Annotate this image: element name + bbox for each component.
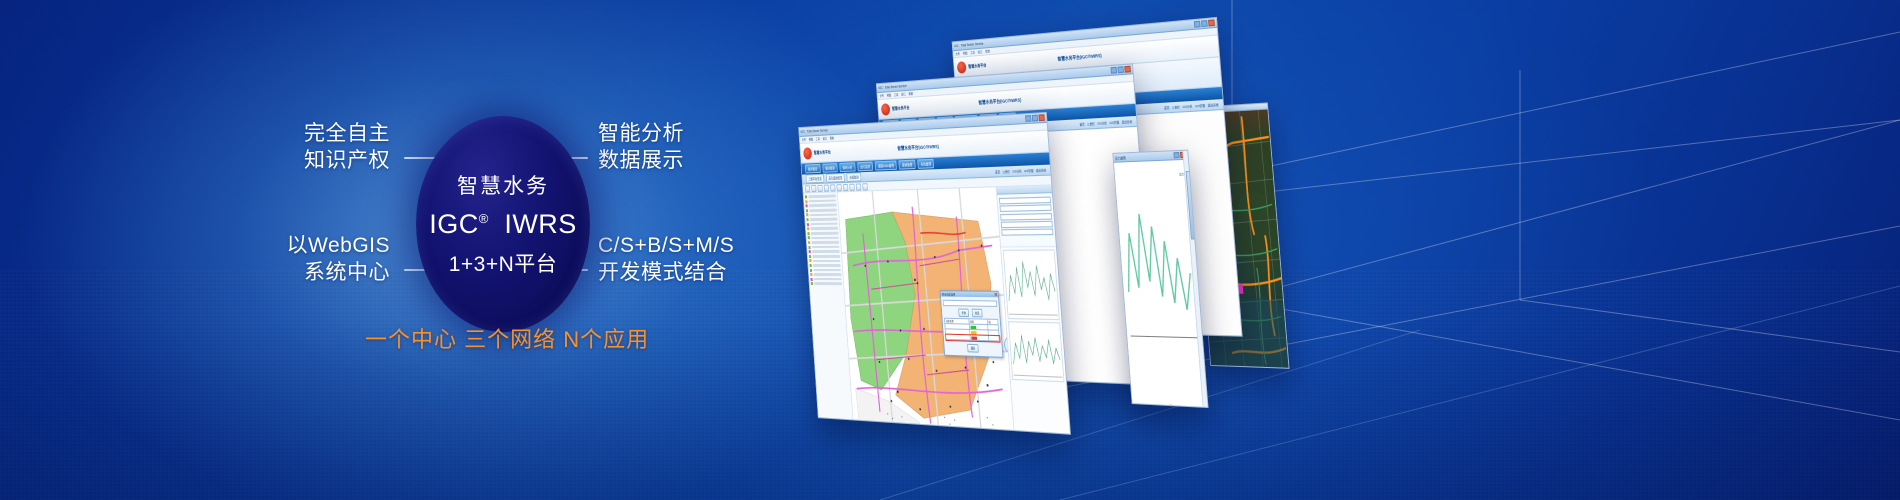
window-title: 压力趋势 bbox=[1115, 155, 1126, 160]
zone-select-dialog[interactable]: 供水分区选择 查询 重置 分区名称状态值 bbox=[940, 290, 1004, 358]
sub-tab[interactable]: 压力监测总览 bbox=[826, 173, 845, 182]
menu-item[interactable]: 视图 bbox=[963, 51, 968, 55]
status-swatch-red bbox=[971, 336, 977, 340]
window-center-title: 智慧水务平台(IGC®IWRS) bbox=[1057, 52, 1102, 62]
window-center-title: 智慧水务平台(IGC®IWRS) bbox=[897, 143, 939, 151]
confirm-button[interactable]: 确定 bbox=[967, 344, 978, 353]
menu-item[interactable]: 窗口 bbox=[823, 136, 828, 140]
sub-tab[interactable]: 水质监测 bbox=[847, 172, 862, 181]
menu-item[interactable]: 帮助 bbox=[985, 49, 990, 53]
nav-tab[interactable]: 管网分析 bbox=[839, 162, 855, 172]
feature-line-1: C/S+B/S+M/S bbox=[598, 232, 734, 259]
nav-tab[interactable]: 管网普查 bbox=[805, 164, 821, 174]
table-row bbox=[946, 335, 1000, 342]
menu-item[interactable]: 帮助 bbox=[908, 92, 913, 96]
sub-link[interactable]: GIS分析 bbox=[1182, 104, 1192, 109]
nav-tab[interactable]: 营销管理 bbox=[899, 159, 916, 169]
tree-node[interactable] bbox=[810, 278, 841, 281]
core-badge: 智慧水务 IGC® IWRS 1+3+N平台 bbox=[416, 116, 590, 332]
core-product: IGC bbox=[429, 209, 479, 239]
window-title: IGC - Total Server Service bbox=[800, 128, 828, 134]
layers-icon[interactable] bbox=[849, 183, 855, 190]
core-platform: 1+3+N平台 bbox=[449, 248, 558, 278]
measure-icon[interactable] bbox=[830, 184, 835, 191]
tree-node[interactable] bbox=[810, 273, 841, 276]
tree-node[interactable] bbox=[810, 264, 841, 267]
status-swatch-green bbox=[970, 325, 976, 329]
tree-node[interactable] bbox=[806, 218, 837, 222]
tree-node[interactable] bbox=[811, 282, 842, 285]
sub-link[interactable]: GIS管理 bbox=[1024, 168, 1034, 173]
query-button[interactable]: 查询 bbox=[958, 309, 969, 318]
company-logo-icon bbox=[881, 103, 890, 115]
pressure-chart-svg bbox=[1009, 322, 1064, 381]
status-swatch-yellow bbox=[971, 331, 977, 335]
close-icon bbox=[1038, 114, 1044, 121]
nav-tab[interactable]: 管网管理 bbox=[822, 163, 838, 173]
core-product-name: IGC® IWRS bbox=[429, 209, 577, 240]
tree-node[interactable] bbox=[807, 227, 838, 231]
pan-icon[interactable] bbox=[805, 185, 810, 192]
feature-line-2: 开发模式结合 bbox=[598, 259, 734, 286]
nav-tab[interactable]: 运行监控 bbox=[857, 161, 873, 171]
sub-link[interactable]: 公告栏 bbox=[1002, 169, 1010, 174]
nav-tab[interactable]: 漏损DMA管理 bbox=[875, 160, 897, 171]
menu-item[interactable]: 文件 bbox=[955, 52, 960, 56]
tree-node[interactable] bbox=[808, 236, 839, 239]
app-window-front[interactable]: IGC - Total Server Service 文件 视图 工具 窗口 帮… bbox=[798, 112, 1071, 435]
feature-label-bottom-left: 以WebGIS 系统中心 bbox=[287, 232, 390, 287]
gis-workspace: 供水分区选择 查询 重置 分区名称状态值 bbox=[803, 185, 1071, 434]
sub-link[interactable]: 公告栏 bbox=[1172, 104, 1180, 109]
minimize-icon bbox=[1173, 152, 1179, 158]
sub-link[interactable]: 退出系统 bbox=[1207, 102, 1218, 107]
minimize-icon bbox=[1025, 115, 1031, 122]
registered-mark-icon: ® bbox=[479, 211, 489, 226]
feature-cluster: 完全自主 知识产权 智能分析 数据展示 以WebGIS 系统中心 C/S+B/S… bbox=[268, 104, 788, 354]
coordinate-status: 坐标 X: Y: bbox=[838, 434, 847, 435]
menu-item[interactable]: 文件 bbox=[879, 94, 884, 98]
brand-name: 智慧水务平台 bbox=[892, 104, 910, 111]
window-center-title: 智慧水务平台(IGC®IWRS) bbox=[978, 97, 1021, 106]
flow-mini-chart bbox=[1003, 249, 1060, 320]
feature-line-1: 以WebGIS bbox=[287, 232, 390, 259]
fullextent-icon[interactable] bbox=[862, 183, 868, 190]
menu-item[interactable]: 帮助 bbox=[830, 136, 835, 140]
sub-tab[interactable]: 二维平台总览 bbox=[806, 174, 825, 183]
menu-item[interactable]: 视图 bbox=[887, 93, 892, 97]
tree-node[interactable] bbox=[806, 204, 837, 208]
window-controls[interactable] bbox=[1025, 114, 1045, 122]
window-controls[interactable] bbox=[1194, 19, 1215, 27]
tree-node[interactable] bbox=[806, 213, 837, 217]
menu-item[interactable]: 工具 bbox=[970, 50, 975, 54]
minimize-icon bbox=[1111, 67, 1118, 74]
screenshot-stack: IGC - Total Server Service 文件 视图 工具 窗口 帮… bbox=[770, 40, 1900, 440]
sub-link[interactable]: 公告栏 bbox=[1087, 121, 1095, 126]
maximize-icon bbox=[1117, 66, 1124, 73]
identify-icon[interactable] bbox=[836, 184, 841, 191]
chart-xlabel: 时间 bbox=[1132, 402, 1208, 408]
dialog-close-icon[interactable] bbox=[994, 293, 997, 296]
sub-link[interactable]: GIS分析 bbox=[1097, 120, 1107, 125]
maximize-icon bbox=[1201, 20, 1208, 27]
dialog-title: 供水分区选择 bbox=[942, 292, 955, 296]
promo-banner: 完全自主 知识产权 智能分析 数据展示 以WebGIS 系统中心 C/S+B/S… bbox=[0, 0, 1900, 500]
tree-node[interactable] bbox=[806, 208, 837, 212]
close-icon bbox=[1124, 66, 1131, 73]
dialog-content: 查询 重置 分区名称状态值 确定 bbox=[941, 297, 1003, 358]
feature-line-2: 知识产权 bbox=[304, 147, 390, 174]
window-title: IGC - Total Server Service bbox=[954, 42, 984, 49]
menu-item[interactable]: 文件 bbox=[802, 138, 806, 142]
menu-item[interactable]: 窗口 bbox=[978, 50, 983, 54]
tree-node[interactable] bbox=[809, 250, 840, 253]
scale-status: 比例尺 1:5 000 bbox=[822, 432, 835, 434]
feature-line-2: 数据展示 bbox=[598, 147, 684, 174]
tree-node[interactable] bbox=[809, 259, 840, 262]
maximize-icon bbox=[1032, 115, 1038, 122]
tree-node[interactable] bbox=[808, 245, 839, 248]
tree-node[interactable] bbox=[807, 222, 838, 226]
sub-link[interactable]: GIS管理 bbox=[1195, 103, 1205, 108]
print-icon[interactable] bbox=[843, 183, 848, 190]
company-logo-icon bbox=[803, 147, 812, 159]
tree-node[interactable] bbox=[807, 231, 838, 234]
pressure-mini-chart bbox=[1008, 321, 1064, 382]
window-controls[interactable] bbox=[1111, 66, 1131, 74]
sub-nav-right[interactable]: 首页 公告栏 GIS分析 GIS管理 退出系统 bbox=[1079, 119, 1132, 126]
minimize-icon bbox=[1194, 21, 1201, 28]
tree-node[interactable] bbox=[805, 194, 836, 198]
menu-item[interactable]: 视图 bbox=[809, 137, 813, 141]
menu-item[interactable]: 工具 bbox=[816, 137, 820, 141]
tree-node[interactable] bbox=[809, 255, 840, 258]
feature-line-2: 系统中心 bbox=[287, 259, 390, 286]
brand-name: 智慧水务平台 bbox=[968, 62, 986, 69]
nav-tab[interactable]: 系统管理 bbox=[917, 159, 934, 170]
tree-node[interactable] bbox=[808, 241, 839, 244]
reset-button[interactable]: 重置 bbox=[971, 309, 983, 318]
tree-node[interactable] bbox=[805, 199, 836, 203]
tree-node[interactable] bbox=[810, 269, 841, 272]
feature-label-top-right: 智能分析 数据展示 bbox=[598, 120, 684, 175]
feature-label-top-left: 完全自主 知识产权 bbox=[304, 120, 390, 175]
company-logo-icon bbox=[957, 61, 967, 74]
close-icon bbox=[1208, 19, 1215, 26]
zone-name-input[interactable] bbox=[943, 300, 998, 307]
feature-line-1: 完全自主 bbox=[304, 120, 390, 147]
core-cn-title: 智慧水务 bbox=[457, 170, 549, 200]
sub-link[interactable]: GIS分析 bbox=[1012, 168, 1022, 173]
sub-link[interactable]: 首页 bbox=[1079, 122, 1084, 127]
sub-link[interactable]: GIS管理 bbox=[1109, 120, 1119, 125]
feature-line-1: 智能分析 bbox=[598, 120, 684, 147]
zone-status-table: 分区名称状态值 bbox=[944, 318, 1000, 342]
sub-link[interactable]: 退出系统 bbox=[1036, 168, 1046, 173]
menu-item[interactable]: 窗口 bbox=[901, 92, 906, 96]
sub-link[interactable]: 退出系统 bbox=[1121, 119, 1132, 124]
flow-chart-svg bbox=[1004, 251, 1059, 320]
zoom-in-icon[interactable] bbox=[811, 185, 816, 192]
brand-name: 智慧水务平台 bbox=[814, 149, 831, 156]
map-canvas[interactable]: 供水分区选择 查询 重置 分区名称状态值 bbox=[838, 187, 1015, 435]
feature-label-bottom-right: C/S+B/S+M/S 开发模式结合 bbox=[598, 232, 734, 287]
tagline: 一个中心 三个网络 N个应用 bbox=[365, 322, 649, 354]
sub-link[interactable]: 首页 bbox=[1164, 105, 1170, 110]
panel-info-block bbox=[997, 193, 1056, 247]
query-icon[interactable] bbox=[856, 183, 862, 190]
core-product-suffix: IWRS bbox=[504, 209, 577, 239]
select-icon[interactable] bbox=[824, 184, 829, 191]
sub-link[interactable]: 首页 bbox=[995, 169, 1000, 173]
menu-item[interactable]: 工具 bbox=[894, 93, 899, 97]
sub-nav-right[interactable]: 首页 公告栏 GIS分析 GIS管理 退出系统 bbox=[995, 168, 1046, 174]
sub-nav-right[interactable]: 首页 公告栏 GIS分析 GIS管理 退出系统 bbox=[1164, 102, 1219, 110]
zoom-out-icon[interactable] bbox=[817, 184, 822, 191]
window-title: IGC - Total Server Service bbox=[878, 84, 907, 90]
